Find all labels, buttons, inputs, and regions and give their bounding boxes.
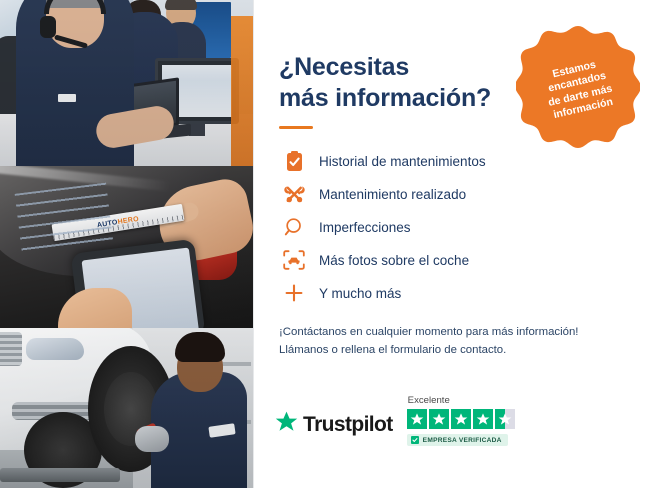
trustpilot-stars bbox=[407, 409, 515, 429]
verified-text: EMPRESA VERIFICADA bbox=[423, 437, 502, 444]
trustpilot-wordmark: Trustpilot bbox=[303, 413, 393, 437]
clipboard-check-icon bbox=[279, 151, 309, 172]
feature-label: Mantenimiento realizado bbox=[309, 187, 466, 202]
trustpilot-score-block: Excelente bbox=[407, 395, 515, 446]
verified-company-badge: EMPRESA VERIFICADA bbox=[407, 434, 508, 446]
information-banner: AUTOHERO bbox=[0, 0, 650, 488]
inspector-hand-holding-tablet bbox=[58, 288, 132, 328]
car-lift-ramp bbox=[0, 468, 120, 482]
agent-three-hair bbox=[165, 0, 197, 10]
star-filled bbox=[451, 409, 471, 429]
contact-line-1: ¡Contáctanos en cualquier momento para m… bbox=[279, 323, 628, 341]
crossed-tools-icon bbox=[279, 184, 309, 205]
car-headlight bbox=[26, 338, 84, 360]
star-half bbox=[495, 409, 515, 429]
tablet-checklist-lines bbox=[15, 183, 114, 254]
headline-line-2: más información? bbox=[279, 84, 491, 112]
feature-list: Historial de mantenimientos M bbox=[279, 145, 628, 309]
headline-line-1: ¿Necesitas bbox=[279, 53, 409, 81]
car-grille bbox=[0, 332, 22, 366]
call-center-agents-photo bbox=[0, 0, 253, 166]
feature-label: Historial de mantenimientos bbox=[309, 154, 486, 169]
monitor-stand bbox=[189, 122, 205, 136]
content-column: ¿Necesitas más información? Historial de… bbox=[253, 0, 650, 488]
technician-glove bbox=[135, 426, 169, 452]
magnifier-icon bbox=[279, 217, 309, 237]
feature-label: Y mucho más bbox=[309, 286, 401, 301]
title-underline bbox=[279, 126, 313, 129]
feature-item-imperfections: Imperfecciones bbox=[279, 211, 628, 243]
check-icon bbox=[411, 436, 419, 444]
feature-label: Imperfecciones bbox=[309, 220, 411, 235]
feature-item-much-more: Y mucho más bbox=[279, 277, 628, 309]
wheel-inspection-photo bbox=[0, 328, 253, 488]
trustpilot-rating[interactable]: Trustpilot Excelente bbox=[275, 395, 627, 446]
trustpilot-logo[interactable]: Trustpilot bbox=[275, 411, 393, 446]
headset-icon bbox=[44, 0, 106, 14]
star-filled bbox=[429, 409, 449, 429]
trustpilot-rating-label: Excelente bbox=[408, 395, 450, 406]
technician-hair bbox=[175, 332, 225, 362]
car-inspection-ruler-photo: AUTOHERO bbox=[0, 166, 253, 328]
photo-column: AUTOHERO bbox=[0, 0, 253, 488]
headset-earcup bbox=[40, 16, 56, 38]
contact-paragraph: ¡Contáctanos en cualquier momento para m… bbox=[279, 323, 628, 360]
star-filled bbox=[407, 409, 427, 429]
feature-item-maintenance-done: Mantenimiento realizado bbox=[279, 178, 628, 210]
badge-content: Estamos encantados de darte más informac… bbox=[504, 12, 650, 161]
contact-line-2: Llámanos o rellena el formulario de cont… bbox=[279, 341, 628, 359]
star-filled bbox=[473, 409, 493, 429]
page-title: ¿Necesitas más información? bbox=[279, 52, 509, 113]
feature-label: Más fotos sobre el coche bbox=[309, 253, 469, 268]
badge-text: Estamos encantados de darte más informac… bbox=[523, 52, 634, 126]
employee-name-tag bbox=[58, 94, 76, 102]
promo-starburst-badge: Estamos encantados de darte más informac… bbox=[516, 24, 640, 148]
car-focus-icon bbox=[279, 250, 309, 270]
feature-item-more-photos: Más fotos sobre el coche bbox=[279, 244, 628, 276]
trustpilot-star-icon bbox=[275, 411, 298, 438]
plus-icon bbox=[279, 283, 309, 303]
orange-rail-decor bbox=[231, 16, 253, 166]
